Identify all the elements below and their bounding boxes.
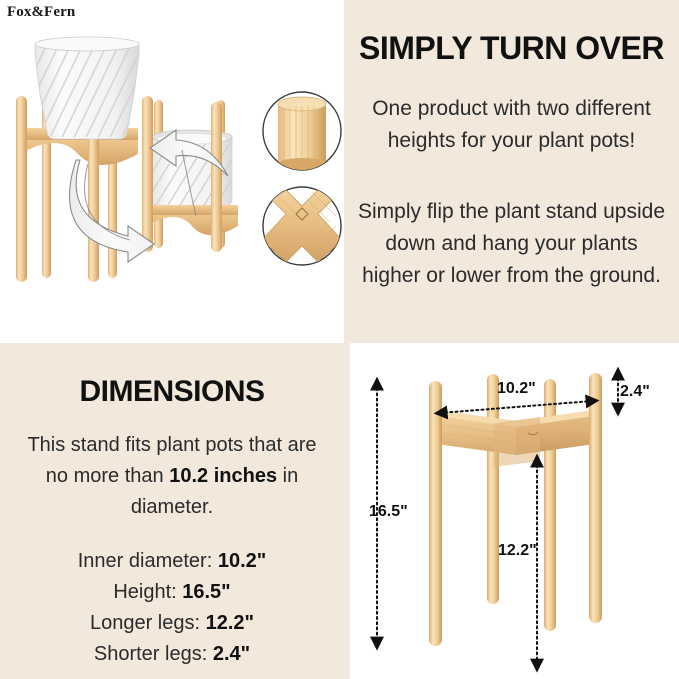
spec-row: Inner diameter: 10.2"	[0, 546, 344, 577]
spec-label: Height:	[113, 581, 176, 603]
dimension-label-longer-legs: 12.2"	[498, 542, 537, 560]
spec-row: Longer legs: 12.2"	[0, 608, 344, 639]
spec-label: Shorter legs:	[94, 643, 207, 665]
turn-over-title: SIMPLY TURN OVER	[344, 30, 679, 67]
spec-row: Shorter legs: 2.4"	[0, 639, 344, 670]
dimensions-spec-list: Inner diameter: 10.2" Height: 16.5" Long…	[0, 546, 344, 670]
spec-label: Inner diameter:	[78, 550, 213, 572]
spec-value: 16.5"	[182, 581, 230, 603]
leg-end-detail-inset	[263, 92, 341, 170]
panel-dimensions-text: DIMENSIONS This stand fits plant pots th…	[0, 343, 344, 679]
infographic-page: Fox&Fern	[0, 0, 679, 679]
panel-simply-turn-over: SIMPLY TURN OVER One product with two di…	[344, 0, 679, 343]
dimension-inner-diameter	[440, 401, 592, 413]
spec-row: Height: 16.5"	[0, 577, 344, 608]
dimension-label-shorter-legs: 2.4"	[620, 383, 650, 401]
dimension-label-total-height: 16.5"	[369, 503, 408, 521]
panel-product-swap: Fox&Fern	[0, 0, 344, 343]
panel-divider-strip	[344, 343, 350, 679]
turn-over-paragraph-1: One product with two different heights f…	[366, 93, 657, 157]
dimensions-title: DIMENSIONS	[0, 375, 344, 409]
dimension-label-inner-diameter: 10.2"	[497, 380, 536, 398]
cross-joint-detail-inset	[262, 187, 342, 265]
turn-over-paragraph-2: Simply flip the plant stand upside down …	[358, 196, 665, 292]
spec-value: 2.4"	[213, 643, 250, 665]
brand-logo: Fox&Fern	[7, 4, 75, 21]
spec-value: 10.2"	[218, 550, 266, 572]
spec-value: 12.2"	[206, 612, 254, 634]
product-swap-illustration	[0, 0, 344, 343]
dimensions-paragraph: This stand fits plant pots that are no m…	[14, 430, 330, 523]
dimensions-paragraph-highlight: 10.2 inches	[169, 465, 277, 487]
spec-label: Longer legs:	[90, 612, 200, 634]
